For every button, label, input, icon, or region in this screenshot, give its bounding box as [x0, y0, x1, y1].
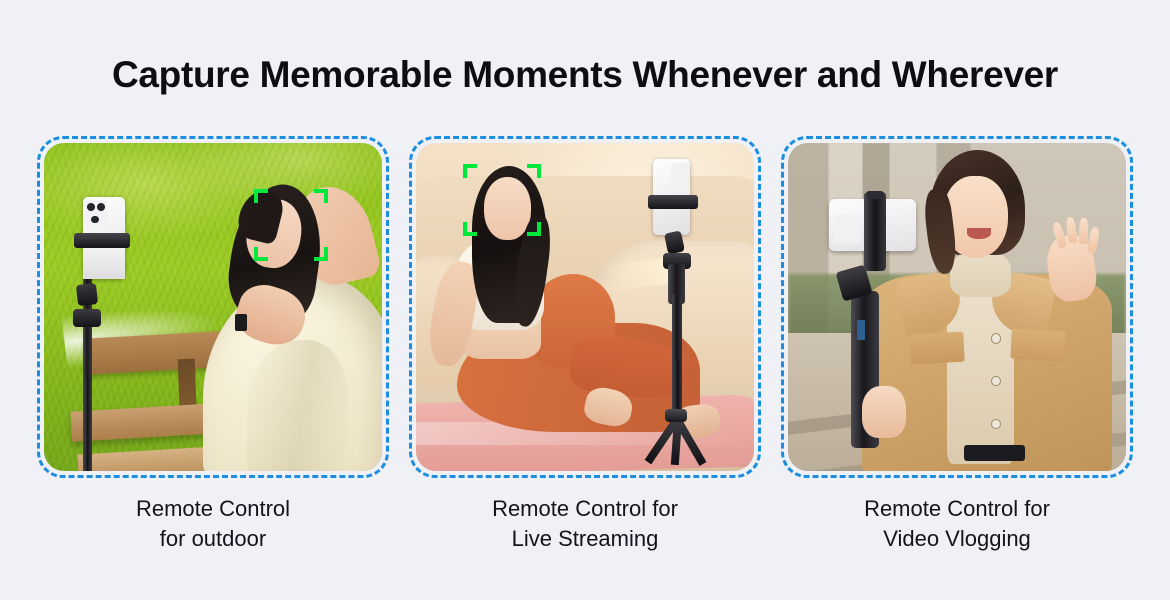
- page-title: Capture Memorable Moments Whenever and W…: [0, 52, 1170, 98]
- scene-photo-live-streaming: [416, 143, 754, 471]
- camera-lens-2: [97, 203, 105, 211]
- tripod-clamp: [73, 309, 102, 327]
- phone-camera-module: [834, 215, 861, 243]
- bluetooth-remote: [235, 314, 247, 331]
- turtleneck-collar: [950, 251, 1011, 297]
- tripod-pole-lower: [85, 379, 90, 471]
- photo-frame-video-vlogging: [781, 136, 1133, 478]
- card-caption-outdoor: Remote Control for outdoor: [136, 494, 290, 554]
- phone-clamp-top: [867, 191, 882, 200]
- camera-lens-3: [91, 216, 99, 224]
- phone-body-lower: [83, 243, 125, 279]
- camera-lens-1: [87, 203, 95, 211]
- feature-card-row: Remote Control for outdoor: [37, 136, 1133, 556]
- caption-line-1: Remote Control for: [492, 494, 678, 524]
- jacket-button-1: [991, 333, 1001, 343]
- scene-photo-video-vlogging: [788, 143, 1126, 471]
- woman-holding-hand: [862, 386, 906, 438]
- scene-photo-outdoor: [44, 143, 382, 471]
- tripod-joint: [76, 283, 98, 306]
- jacket-pocket-left: [909, 332, 965, 364]
- feature-card-video-vlogging[interactable]: Remote Control for Video Vlogging: [781, 136, 1133, 556]
- jacket-pocket-right: [1010, 329, 1066, 361]
- promo-banner: Capture Memorable Moments Whenever and W…: [0, 0, 1170, 600]
- selfie-stick-accent: [857, 320, 865, 340]
- caption-line-2: Live Streaming: [492, 524, 678, 554]
- caption-line-2: for outdoor: [136, 524, 290, 554]
- feature-card-outdoor[interactable]: Remote Control for outdoor: [37, 136, 389, 556]
- card-caption-live-streaming: Remote Control for Live Streaming: [492, 494, 678, 554]
- tripod-leg-hub: [665, 409, 687, 422]
- phone-camera-module: [671, 163, 690, 188]
- phone-holder-arm: [74, 233, 130, 248]
- dress-fold-shadow: [247, 340, 348, 471]
- finger-3: [1078, 218, 1088, 245]
- card-caption-video-vlogging: Remote Control for Video Vlogging: [864, 494, 1050, 554]
- feature-card-live-streaming[interactable]: Remote Control for Live Streaming: [409, 136, 761, 556]
- caption-line-2: Video Vlogging: [864, 524, 1050, 554]
- woman-face: [484, 177, 531, 239]
- waist-belt: [964, 445, 1025, 461]
- caption-line-1: Remote Control: [136, 494, 290, 524]
- phone-holder-arm: [648, 195, 699, 209]
- jacket-button-3: [991, 419, 1001, 429]
- phone-camera-module: [85, 200, 107, 226]
- photo-frame-live-streaming: [409, 136, 761, 478]
- photo-frame-outdoor: [37, 136, 389, 478]
- phone-clamp: [864, 192, 886, 271]
- caption-line-1: Remote Control for: [864, 494, 1050, 524]
